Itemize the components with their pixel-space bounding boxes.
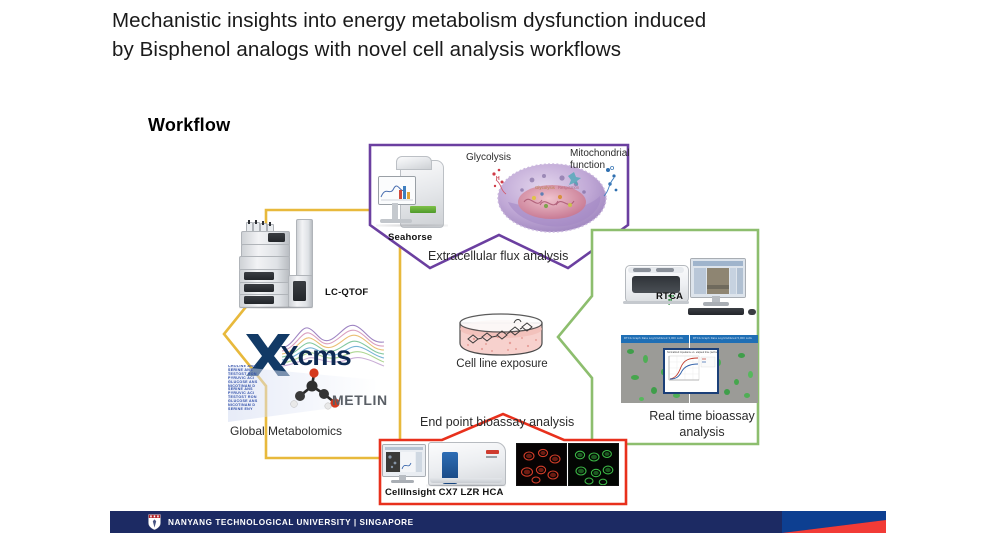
cell-line-exposure-caption: Cell line exposure: [442, 357, 562, 372]
ntu-crest-icon: [148, 514, 161, 530]
micrograph-header-right: RTCA Graph Data Log/Undiluted 5,000 cell…: [690, 335, 758, 343]
metlin-wordmark: METLIN: [332, 392, 388, 408]
fluorescence-image-green: [568, 443, 619, 486]
page-title: Mechanistic insights into energy metabol…: [112, 6, 722, 64]
petri-dish-icon: [452, 313, 550, 357]
fluorescence-image-red: [516, 443, 567, 486]
glycolysis-label: Glycolysis: [466, 150, 511, 165]
seahorse-label: Seahorse: [388, 232, 432, 243]
rtca-label: RTCA: [656, 291, 683, 302]
section-heading: Workflow: [148, 115, 230, 136]
metlin-compound-list: CHOLINE ANS SERINE ANS TESTOST RON PYRUV…: [228, 365, 292, 423]
svg-text:Glycolysis: Glycolysis: [535, 185, 556, 190]
mitochondrial-function-label: Mitochondrial function: [570, 148, 632, 172]
end-point-bioassay-caption: End point bioassay analysis: [420, 415, 574, 430]
lc-qtof-label: LC-QTOF: [325, 287, 368, 298]
real-time-bioassay-caption: Real time bioassay analysis: [637, 408, 767, 440]
ntu-banner-text: NANYANG TECHNOLOGICAL UNIVERSITY | SINGA…: [168, 518, 414, 527]
metlin-logo: CHOLINE ANS SERINE ANS TESTOST RON PYRUV…: [228, 362, 398, 426]
banner-accent-graphic: [782, 511, 886, 533]
slide-canvas: Mechanistic insights into energy metabol…: [0, 0, 1000, 560]
svg-text:Respiration: Respiration: [558, 185, 580, 190]
rtca-plot-window[interactable]: Normalized impedance vs. elapsed time (s…: [663, 348, 719, 394]
cellinsight-label: CellInsight CX7 LZR HCA: [385, 487, 504, 498]
micrograph-header-left: RTCA Graph Data Log/Undiluted 3,000 cell…: [621, 335, 689, 343]
svg-text:H: H: [496, 176, 500, 182]
ntu-footer-banner: NANYANG TECHNOLOGICAL UNIVERSITY | SINGA…: [110, 511, 886, 533]
global-metabolomics-caption: Global Metabolomics: [230, 424, 342, 439]
extracellular-flux-caption: Extracellular flux analysis: [428, 249, 568, 264]
